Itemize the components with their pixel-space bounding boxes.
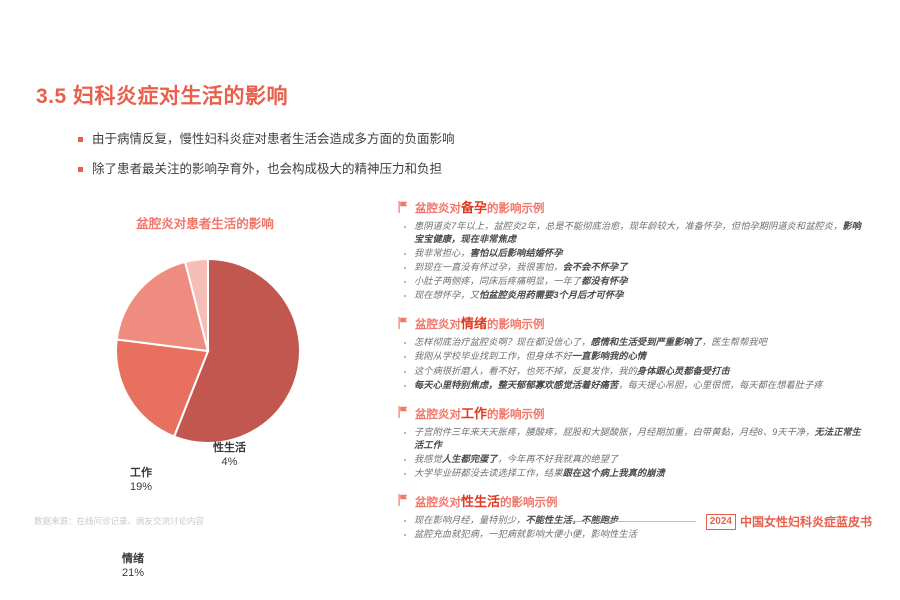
pie-label-sexlife: 性生活 4% (213, 442, 246, 470)
section-header: 盆腔炎对备孕的影响示例 (398, 197, 868, 216)
square-bullet-icon (78, 137, 83, 142)
dot-bullet-icon (404, 342, 406, 344)
page-title: 3.5 妇科炎症对生活的影响 (36, 80, 288, 110)
pie-label-work: 工作 19% (130, 467, 152, 495)
impact-section: 盆腔炎对情绪的影响示例怎样彻底治疗盆腔炎啊？现在都没信心了，感情和生活受到严重影… (398, 313, 868, 391)
quote-text: 我非常担心，害怕以后影响结婚怀孕 (414, 247, 563, 260)
slide-root: 3.5 妇科炎症对生活的影响 由于病情反复，慢性妇科炎症对患者生活会造成多方面的… (0, 0, 900, 600)
pie-label-pregnancy: 备孕 56% (270, 553, 292, 581)
list-item: 每天心里特别焦虑，整天郁郁寡欢感觉活着好痛苦，每天提心吊胆，心里很慌，每天都在想… (398, 379, 868, 392)
dot-bullet-icon (404, 459, 406, 461)
square-bullet-icon (78, 167, 83, 172)
quote-text: 小肚子两侧疼，同床后疼痛明显，一年了都没有怀孕 (414, 275, 628, 288)
quote-text: 患阴道炎7年以上，盆腔炎2年，总是不能彻底治愈，现年龄较大，准备怀孕，但怕孕期阴… (414, 220, 868, 246)
pie-chart-block: 盆腔炎对患者生活的影响 性生活 4% 工作 19% 情绪 21% 备孕 56% (30, 205, 380, 445)
brand-title: 中国女性妇科炎症蓝皮书 (740, 513, 872, 530)
dot-bullet-icon (404, 295, 406, 297)
quote-text: 现在想怀孕，又怕盆腔炎用药需要3个月后才可怀孕 (414, 289, 624, 302)
dot-bullet-icon (404, 385, 406, 387)
list-item: 我感觉人生都完蛋了，今年再不好我就真的绝望了 (398, 453, 868, 466)
footer-brand: 2024 中国女性妇科炎症蓝皮书 (566, 513, 872, 530)
intro-bullet-text: 除了患者最关注的影响孕育外，也会构成极大的精神压力和负担 (92, 161, 442, 178)
year-badge: 2024 (706, 514, 736, 530)
list-item: 到现在一直没有怀过孕，我很害怕，会不会不怀孕了 (398, 261, 868, 274)
section-title-keyword: 备孕 (461, 200, 487, 215)
flag-icon (398, 317, 409, 329)
section-title-keyword: 情绪 (461, 316, 487, 331)
list-item: 我非常担心，害怕以后影响结婚怀孕 (398, 247, 868, 260)
dot-bullet-icon (404, 226, 406, 228)
impact-section: 盆腔炎对工作的影响示例子宫附件三年来天天胀疼，腰酸疼，屁股和大腿酸胀，月经期加重… (398, 403, 868, 480)
section-header: 盆腔炎对性生活的影响示例 (398, 491, 868, 510)
list-item: 这个病很折磨人，看不好，也死不掉，反复发作，我的身体跟心灵都备受打击 (398, 365, 868, 378)
section-title: 盆腔炎对性生活的影响示例 (415, 491, 558, 510)
dot-bullet-icon (404, 356, 406, 358)
quote-text: 怎样彻底治疗盆腔炎啊？现在都没信心了，感情和生活受到严重影响了，医生帮帮我吧 (414, 336, 767, 349)
flag-icon (398, 406, 409, 418)
section-header: 盆腔炎对工作的影响示例 (398, 403, 868, 422)
section-title: 盆腔炎对情绪的影响示例 (415, 313, 545, 332)
quote-list: 怎样彻底治疗盆腔炎啊？现在都没信心了，感情和生活受到严重影响了，医生帮帮我吧我刚… (398, 336, 868, 391)
list-item: 怎样彻底治疗盆腔炎啊？现在都没信心了，感情和生活受到严重影响了，医生帮帮我吧 (398, 336, 868, 349)
pie-label-emotion: 情绪 21% (122, 553, 144, 581)
dot-bullet-icon (404, 253, 406, 255)
source-note: 数据来源：在线问诊记录、病友交流讨论内容 (34, 515, 204, 527)
quote-text: 我刚从学校毕业找到工作，但身体不好一直影响我的心情 (414, 350, 646, 363)
dot-bullet-icon (404, 432, 406, 434)
quote-text: 这个病很折磨人，看不好，也死不掉，反复发作，我的身体跟心灵都备受打击 (414, 365, 730, 378)
section-title-keyword: 性生活 (461, 494, 500, 509)
quote-text: 到现在一直没有怀过孕，我很害怕，会不会不怀孕了 (414, 261, 628, 274)
quote-text: 大学毕业研都没去读选择工作，结果跟在这个病上我真的崩溃 (414, 467, 665, 480)
list-item: 小肚子两侧疼，同床后疼痛明显，一年了都没有怀孕 (398, 275, 868, 288)
divider (566, 521, 696, 522)
dot-bullet-icon (404, 473, 406, 475)
flag-icon (398, 201, 409, 213)
impact-section: 盆腔炎对备孕的影响示例患阴道炎7年以上，盆腔炎2年，总是不能彻底治愈，现年龄较大… (398, 197, 868, 302)
pie-chart-svg (115, 258, 301, 444)
list-item: 除了患者最关注的影响孕育外，也会构成极大的精神压力和负担 (78, 161, 638, 178)
quote-text: 每天心里特别焦虑，整天郁郁寡欢感觉活着好痛苦，每天提心吊胆，心里很慌，每天都在想… (414, 379, 823, 392)
intro-bullet-text: 由于病情反复，慢性妇科炎症对患者生活会造成多方面的负面影响 (92, 131, 455, 148)
list-item: 现在想怀孕，又怕盆腔炎用药需要3个月后才可怀孕 (398, 289, 868, 302)
impact-sections: 盆腔炎对备孕的影响示例患阴道炎7年以上，盆腔炎2年，总是不能彻底治愈，现年龄较大… (398, 197, 868, 542)
section-title: 盆腔炎对备孕的影响示例 (415, 197, 545, 216)
list-item: 大学毕业研都没去读选择工作，结果跟在这个病上我真的崩溃 (398, 467, 868, 480)
section-title-keyword: 工作 (461, 406, 487, 421)
list-item: 由于病情反复，慢性妇科炎症对患者生活会造成多方面的负面影响 (78, 131, 638, 148)
quote-list: 患阴道炎7年以上，盆腔炎2年，总是不能彻底治愈，现年龄较大，准备怀孕，但怕孕期阴… (398, 220, 868, 302)
quote-text: 子宫附件三年来天天胀疼，腰酸疼，屁股和大腿酸胀，月经期加重，白带黄黏，月经8、9… (414, 426, 868, 452)
flag-icon (398, 494, 409, 506)
dot-bullet-icon (404, 281, 406, 283)
dot-bullet-icon (404, 520, 406, 522)
dot-bullet-icon (404, 267, 406, 269)
section-header: 盆腔炎对情绪的影响示例 (398, 313, 868, 332)
dot-bullet-icon (404, 371, 406, 373)
dot-bullet-icon (404, 534, 406, 536)
section-title: 盆腔炎对工作的影响示例 (415, 403, 545, 422)
chart-title: 盆腔炎对患者生活的影响 (30, 213, 380, 232)
list-item: 患阴道炎7年以上，盆腔炎2年，总是不能彻底治愈，现年龄较大，准备怀孕，但怕孕期阴… (398, 220, 868, 246)
quote-text: 我感觉人生都完蛋了，今年再不好我就真的绝望了 (414, 453, 618, 466)
list-item: 子宫附件三年来天天胀疼，腰酸疼，屁股和大腿酸胀，月经期加重，白带黄黏，月经8、9… (398, 426, 868, 452)
pie-chart (115, 258, 301, 444)
list-item: 我刚从学校毕业找到工作，但身体不好一直影响我的心情 (398, 350, 868, 363)
intro-bullet-list: 由于病情反复，慢性妇科炎症对患者生活会造成多方面的负面影响 除了患者最关注的影响… (78, 131, 638, 191)
quote-list: 子宫附件三年来天天胀疼，腰酸疼，屁股和大腿酸胀，月经期加重，白带黄黏，月经8、9… (398, 426, 868, 480)
